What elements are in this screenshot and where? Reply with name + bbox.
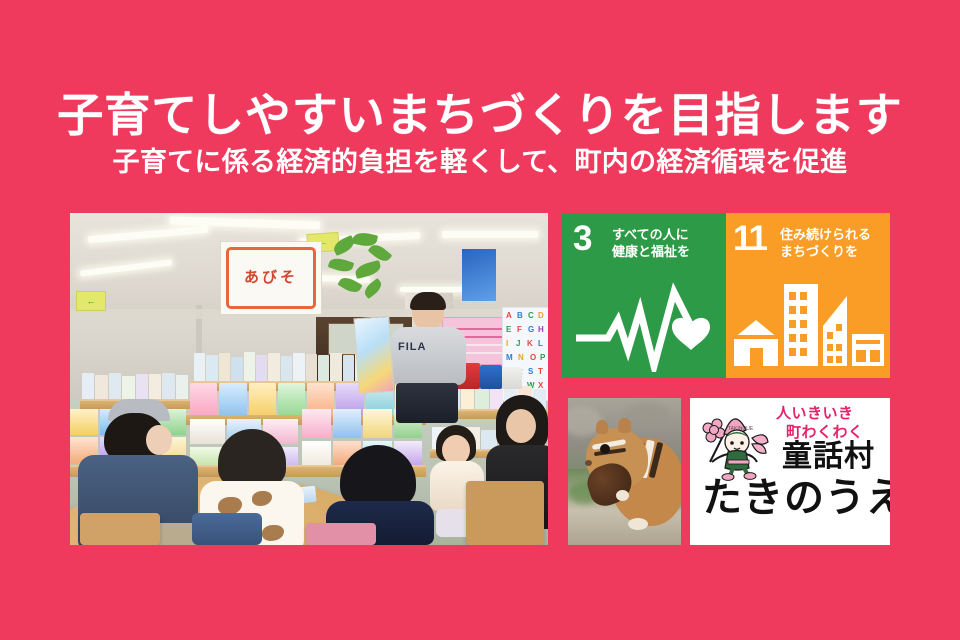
person-head bbox=[146, 425, 172, 455]
hoodie-logo: FILA bbox=[398, 341, 432, 355]
sdg-badge-title: すべての人に 健康と福祉を bbox=[612, 226, 690, 260]
plant-leaf bbox=[354, 260, 382, 279]
person-head bbox=[506, 409, 536, 443]
person-pants bbox=[396, 383, 458, 423]
potted-plant bbox=[325, 233, 395, 303]
chipmunk-paw bbox=[628, 518, 648, 530]
sdg-badge-3: 3 すべての人に 健康と福祉を bbox=[562, 213, 726, 378]
sdg-badge-title: 住み続けられる まちづくりを bbox=[780, 226, 871, 260]
logo-tagline-line2: 町わくわく bbox=[786, 425, 864, 440]
exit-arrow-icon: ← bbox=[87, 297, 96, 306]
logo-name-main: たきのうえ bbox=[702, 478, 890, 518]
headline-block: 子育てしやすいまちづくりを目指します 子育てに係る経済的負担を軽くして、町内の経… bbox=[0, 92, 960, 176]
abiso-sign-frame: あびそ bbox=[226, 247, 316, 309]
tote-bag bbox=[502, 367, 522, 389]
page-title: 子育てしやすいまちづくりを目指します bbox=[0, 92, 960, 138]
chipmunk-photo bbox=[568, 398, 681, 545]
heartbeat-heart-icon bbox=[562, 280, 726, 372]
chipmunk-ear bbox=[618, 418, 631, 433]
sdg-badge-number: 3 bbox=[573, 221, 591, 256]
page-subtitle: 子育てに係る経済的負担を軽くして、町内の経済循環を促進 bbox=[0, 149, 960, 176]
chipmunk-ear bbox=[596, 420, 608, 434]
chipmunk-nose bbox=[585, 460, 592, 466]
town-logo: TAKINOUE 人いきいき 町わくわく 童話村 たきのうえ bbox=[690, 398, 890, 545]
chair bbox=[466, 481, 544, 545]
ceiling-light bbox=[400, 287, 470, 292]
person-adult-male: FILA bbox=[386, 295, 476, 423]
person-hair bbox=[340, 445, 416, 507]
slide-root: 子育てしやすいまちづくりを目指します 子育てに係る経済的負担を軽くして、町内の経… bbox=[0, 0, 960, 640]
logo-name-top: 童話村 bbox=[782, 442, 875, 472]
chipmunk-paw bbox=[616, 490, 629, 501]
chair bbox=[306, 523, 376, 545]
exit-sign: ← bbox=[76, 291, 106, 311]
mascot-character-icon: TAKINOUE bbox=[698, 404, 776, 482]
chair bbox=[80, 513, 160, 545]
abiso-sign: あびそ bbox=[220, 241, 322, 315]
plant-leaf bbox=[362, 278, 385, 299]
chipmunk-eye bbox=[600, 444, 610, 454]
ceiling-light bbox=[442, 231, 538, 238]
plant-leaf bbox=[328, 256, 355, 275]
abiso-sign-text: あびそ bbox=[244, 270, 298, 286]
library-photo-caption: 町立図書館の子育てスペースで絵本を楽しむ親子 bbox=[0, 0, 1, 1]
picture-book-held bbox=[353, 316, 394, 394]
person-hoodie bbox=[390, 327, 466, 385]
library-photo: ← ← あびそ bbox=[70, 213, 548, 545]
sdg-badge-number: 11 bbox=[733, 221, 766, 256]
blue-poster bbox=[462, 249, 496, 301]
tote-bag bbox=[480, 365, 502, 389]
person-hair bbox=[410, 292, 446, 310]
logo-tagline-line1: 人いきいき bbox=[776, 406, 854, 421]
city-buildings-icon bbox=[726, 280, 890, 372]
sdg-badge-11: 11 住み続けられる まちづくりを bbox=[726, 213, 890, 378]
book-row bbox=[82, 371, 188, 399]
child-jeans bbox=[192, 513, 262, 545]
person-hair bbox=[218, 429, 286, 487]
chipmunk-photo-caption: 木の実をかじるシマリス bbox=[0, 0, 1, 1]
